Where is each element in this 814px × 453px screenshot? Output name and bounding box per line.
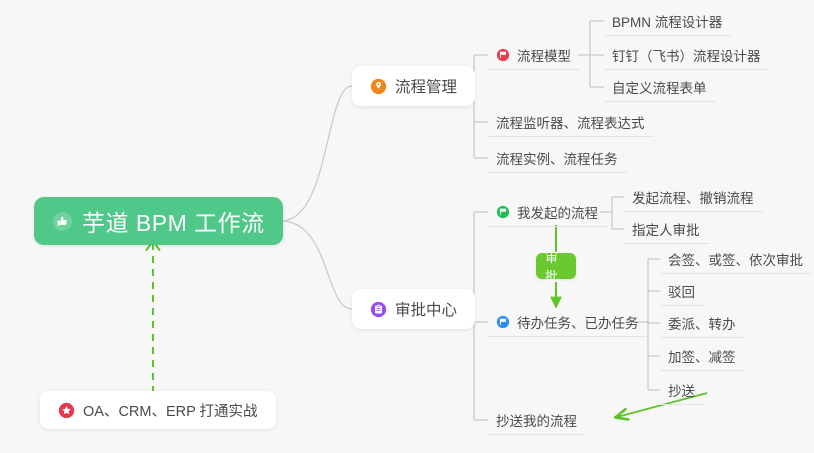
node-cc-to-me[interactable]: 抄送我的流程 <box>488 405 586 435</box>
node-process-listener-label: 流程监听器、流程表达式 <box>496 112 645 132</box>
location-pin-icon <box>370 78 387 95</box>
node-delegate-transfer-label: 委派、转办 <box>668 313 736 333</box>
branch-approval-center[interactable]: 审批中心 <box>352 289 475 329</box>
node-custom-form-label: 自定义流程表单 <box>612 77 707 97</box>
thumbs-up-icon <box>52 211 73 232</box>
node-todo-done-tasks-label: 待办任务、已办任务 <box>517 312 639 332</box>
root-node[interactable]: 芋道 BPM 工作流 <box>34 197 283 245</box>
wire-root-to-process-management <box>281 86 352 221</box>
flag-icon <box>496 48 510 62</box>
branch-approval-center-label: 审批中心 <box>395 298 457 320</box>
node-cc[interactable]: 抄送 <box>660 375 704 405</box>
node-todo-done-tasks[interactable]: 待办任务、已办任务 <box>488 307 648 337</box>
node-designated-approver-label: 指定人审批 <box>632 219 700 239</box>
node-initiate-cancel-label: 发起流程、撤销流程 <box>632 187 754 207</box>
node-bpmn-designer[interactable]: BPMN 流程设计器 <box>604 6 731 36</box>
node-countersign-label: 会签、或签、依次审批 <box>668 249 803 269</box>
approval-emphasis-label: 审批 <box>545 247 567 285</box>
node-process-listener[interactable]: 流程监听器、流程表达式 <box>488 107 654 137</box>
node-delegate-transfer[interactable]: 委派、转办 <box>660 308 745 338</box>
node-add-remove-sign-label: 加签、减签 <box>668 346 736 366</box>
flag-icon <box>496 315 510 329</box>
node-designated-approver[interactable]: 指定人审批 <box>624 214 709 244</box>
node-cc-label: 抄送 <box>668 380 695 400</box>
flag-icon <box>496 205 510 219</box>
node-process-model[interactable]: 流程模型 <box>488 40 580 70</box>
node-reject-label: 驳回 <box>668 281 695 301</box>
mindmap-canvas: 芋道 BPM 工作流 流程管理 流程模型 流程监听器、流程表达式 流程实例、流程… <box>0 0 814 453</box>
node-process-instance[interactable]: 流程实例、流程任务 <box>488 143 627 173</box>
integration-card[interactable]: OA、CRM、ERP 打通实战 <box>40 391 276 429</box>
node-bpmn-designer-label: BPMN 流程设计器 <box>612 11 722 31</box>
root-label: 芋道 BPM 工作流 <box>82 204 265 238</box>
node-dingtalk-designer-label: 钉钉（飞书）流程设计器 <box>612 45 761 65</box>
approval-emphasis-box[interactable]: 审批 <box>536 253 576 279</box>
node-process-instance-label: 流程实例、流程任务 <box>496 148 618 168</box>
star-icon <box>58 402 75 419</box>
node-process-model-label: 流程模型 <box>517 45 571 65</box>
integration-card-label: OA、CRM、ERP 打通实战 <box>83 400 258 421</box>
node-dingtalk-designer[interactable]: 钉钉（飞书）流程设计器 <box>604 40 770 70</box>
clipboard-icon <box>370 301 387 318</box>
node-my-initiated[interactable]: 我发起的流程 <box>488 197 607 227</box>
wire-root-to-approval-center <box>281 221 352 309</box>
branch-process-management-label: 流程管理 <box>395 75 457 97</box>
node-add-remove-sign[interactable]: 加签、减签 <box>660 341 745 371</box>
node-cc-to-me-label: 抄送我的流程 <box>496 410 577 430</box>
node-initiate-cancel[interactable]: 发起流程、撤销流程 <box>624 182 763 212</box>
node-my-initiated-label: 我发起的流程 <box>517 202 598 222</box>
branch-process-management[interactable]: 流程管理 <box>352 66 475 106</box>
node-countersign[interactable]: 会签、或签、依次审批 <box>660 244 812 274</box>
node-custom-form[interactable]: 自定义流程表单 <box>604 72 716 102</box>
node-reject[interactable]: 驳回 <box>660 276 704 306</box>
